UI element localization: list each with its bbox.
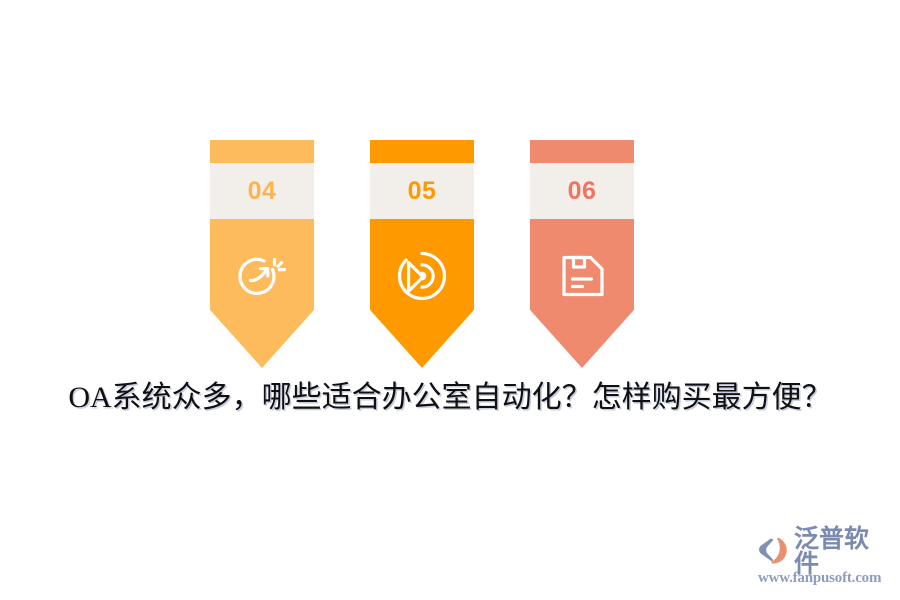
growth-target-icon bbox=[210, 248, 314, 304]
banner-number-band-06: 06 bbox=[530, 163, 634, 219]
banner-number-band-05: 05 bbox=[370, 163, 474, 219]
poster-canvas: 04 05 bbox=[0, 0, 900, 600]
logo-top-row: 泛普软件 bbox=[757, 534, 893, 568]
banner-number-06: 06 bbox=[568, 179, 597, 204]
document-save-icon bbox=[530, 248, 634, 304]
fanpu-logo-mark-icon bbox=[757, 536, 791, 566]
brand-logo[interactable]: 泛普软件 www.fanpusoft.com bbox=[757, 534, 893, 588]
signal-broadcast-icon bbox=[370, 248, 474, 304]
banner-number-04: 04 bbox=[248, 179, 277, 204]
banner-group: 04 05 bbox=[210, 140, 690, 370]
logo-website-url: www.fanpusoft.com bbox=[758, 571, 893, 586]
page-title: OA系统众多，哪些适合办公室自动化？怎样购买最方便？ bbox=[0, 380, 900, 416]
banner-item-05[interactable]: 05 bbox=[370, 140, 474, 368]
logo-company-name: 泛普软件 bbox=[794, 526, 893, 576]
banner-item-06[interactable]: 06 bbox=[530, 140, 634, 368]
banner-number-05: 05 bbox=[408, 179, 437, 204]
banner-item-04[interactable]: 04 bbox=[210, 140, 314, 368]
banner-number-band-04: 04 bbox=[210, 163, 314, 219]
